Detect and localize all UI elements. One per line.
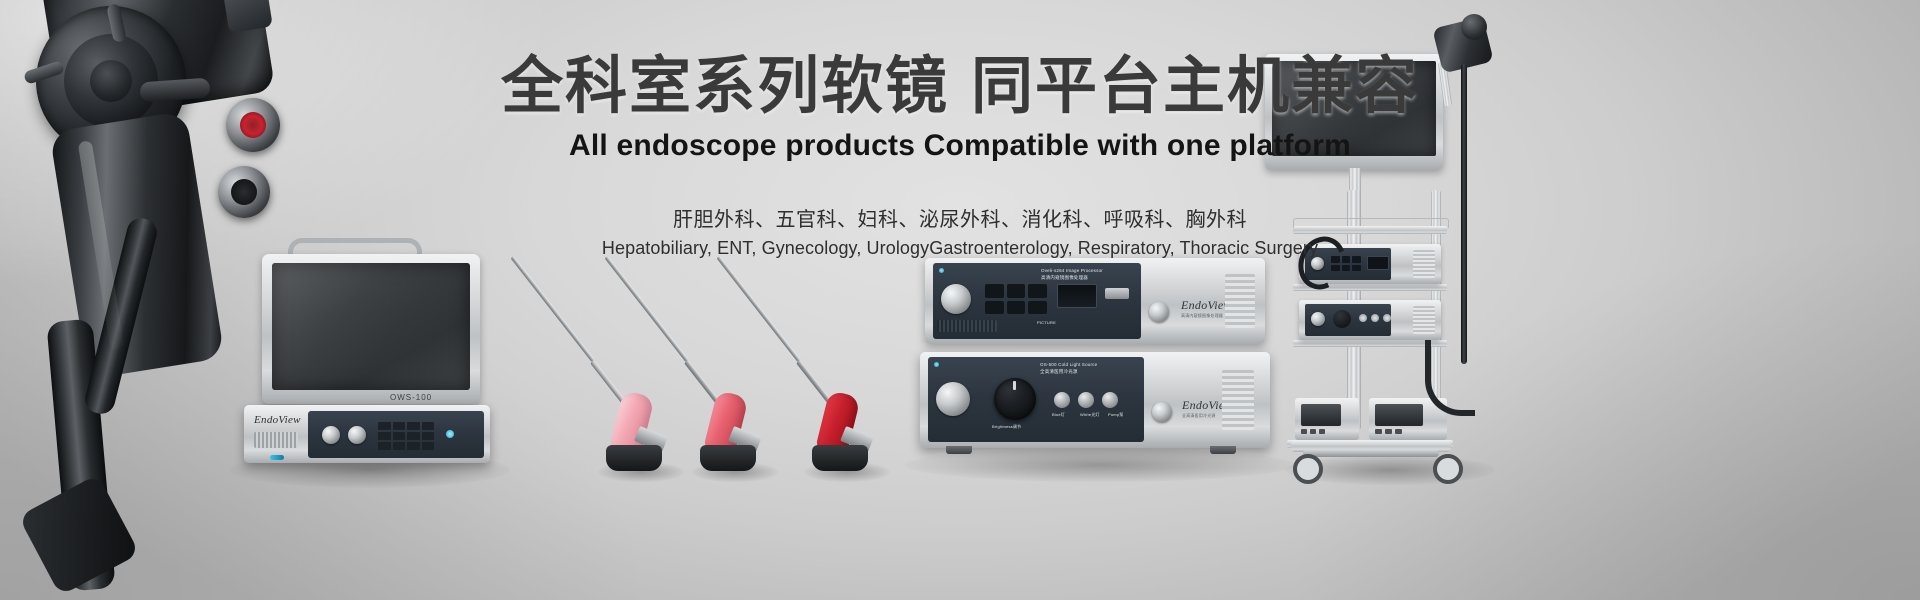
- instrument-2-shaft: [604, 256, 688, 362]
- product-banner: 全科室系列软镜同平台主机兼容 All endoscope products Co…: [0, 0, 1920, 600]
- processor-top-label-cn: 高清内窥镜图像处理器: [1041, 275, 1088, 281]
- lightsource-scope-port[interactable]: [936, 382, 970, 416]
- cart-caster-left[interactable]: [1293, 454, 1323, 484]
- processor-top-main-knob[interactable]: [941, 284, 971, 314]
- processor-top-bottom-vent: [937, 320, 997, 332]
- lightsource-button-label-3: Pump泵: [1108, 412, 1132, 418]
- cart-device-2-buttons[interactable]: [1359, 314, 1391, 322]
- instrument-3-shaft: [716, 256, 800, 362]
- processor-top-side-knob[interactable]: [1149, 302, 1169, 322]
- subtitle-english-headline: All endoscope products Compatible with o…: [0, 129, 1920, 163]
- departments-english: Hepatobiliary, ENT, Gynecology, UrologyG…: [0, 238, 1920, 259]
- product-instrument-crimson: [716, 255, 876, 475]
- cart-device-3-buttons[interactable]: [1301, 429, 1325, 434]
- cart-base-bar: [1303, 450, 1439, 457]
- processor-top-brand-sub: 高清内窥镜图像处理器: [1181, 313, 1223, 319]
- cart-caster-right[interactable]: [1433, 454, 1463, 484]
- departments-chinese: 肝胆外科、五官科、妇科、泌尿外科、消化科、呼吸科、胸外科: [0, 203, 1920, 232]
- processor-top-indicator-led: [939, 268, 944, 273]
- endoscope-distal-bending-section: [18, 474, 140, 596]
- instrument-3-base: [812, 445, 868, 471]
- title-cn-part2: 同平台主机兼容: [971, 52, 1419, 121]
- processor-top-display-window: [1057, 284, 1097, 308]
- lightsource-foot-right: [1210, 446, 1236, 454]
- lightsource-label-cn: 全高清医用冷光源: [1040, 369, 1078, 375]
- lightsource-indicator-led: [934, 362, 939, 367]
- lightsource-knob-label: Brightness调节: [992, 424, 1021, 430]
- page-title: 全科室系列软镜同平台主机兼容: [0, 52, 1920, 121]
- cart-shelf-3: [1293, 340, 1447, 347]
- processor-top-label-en: Oveli-s264 Image Processor: [1041, 268, 1103, 273]
- lightsource-button-labels: Blue灯 White光灯 Pump泵: [1052, 412, 1136, 418]
- cart-device-4-screen: [1375, 404, 1423, 426]
- lightsource-label-en: OS-500 Cold Light Source: [1040, 362, 1097, 367]
- processor-top-bottom-label: PICTURE: [1037, 320, 1056, 325]
- product-cold-light-source: OS-500 Cold Light Source 全高清医用冷光源 Bright…: [920, 352, 1270, 452]
- monitor-power-led: [446, 430, 454, 438]
- banner-text-block: 全科室系列软镜同平台主机兼容 All endoscope products Co…: [0, 52, 1920, 259]
- lightsource-brand-sub: 全高清医用冷光源: [1182, 413, 1216, 419]
- product-image-processor: Oveli-s264 Image Processor 高清内窥镜图像处理器 PI…: [925, 258, 1265, 348]
- processor-top-keypad[interactable]: [985, 284, 1047, 314]
- lightsource-foot-left: [946, 446, 972, 454]
- processor-top-usb-port[interactable]: [1105, 288, 1129, 299]
- cart-scope-knob: [1461, 14, 1487, 40]
- lightsource-button-label-1: Blue灯: [1052, 412, 1076, 418]
- lightsource-button-label-2: White光灯: [1080, 412, 1104, 418]
- lightsource-knob-marker: [1013, 381, 1016, 390]
- title-cn-part1: 全科室系列软镜: [501, 52, 949, 121]
- lightsource-button-row[interactable]: [1054, 392, 1130, 408]
- lightsource-side-knob[interactable]: [1152, 402, 1172, 422]
- cart-device-2-vent: [1413, 306, 1435, 334]
- cart-device-2-dark-knob[interactable]: [1333, 310, 1351, 328]
- processor-top-vent-right: [1225, 274, 1255, 328]
- cart-device-4-buttons[interactable]: [1375, 429, 1402, 434]
- instrument-1-shaft: [510, 256, 594, 362]
- cart-device-3-screen: [1301, 404, 1341, 426]
- cart-device-2-scope-port[interactable]: [1311, 312, 1325, 326]
- lightsource-vent-right: [1222, 370, 1254, 430]
